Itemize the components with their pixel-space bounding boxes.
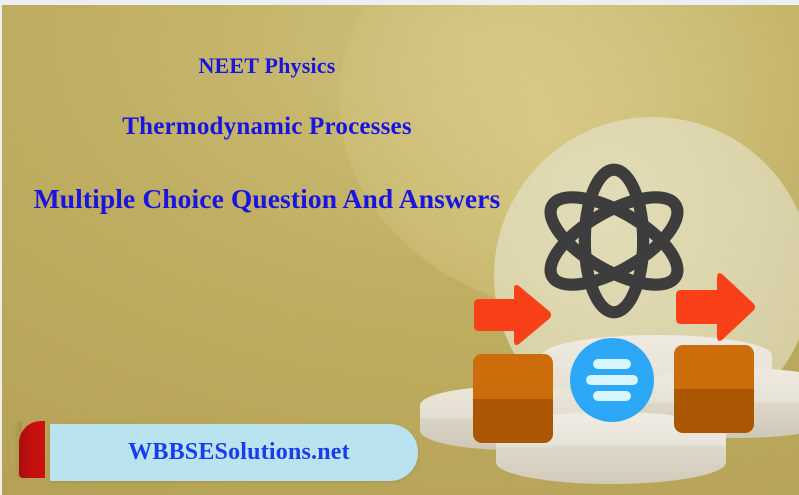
bookmark-shape bbox=[19, 421, 45, 478]
heading-group: NEET Physics Thermodynamic Processes Mul… bbox=[2, 53, 532, 215]
page-title-line1: NEET Physics bbox=[2, 53, 532, 79]
block-top-face bbox=[473, 354, 553, 399]
block-bottom-face bbox=[473, 399, 553, 444]
card-background: NEET Physics Thermodynamic Processes Mul… bbox=[2, 5, 799, 495]
page-title-line2: Thermodynamic Processes bbox=[2, 113, 532, 141]
block-top-face bbox=[674, 345, 754, 389]
site-banner: WBBSESolutions.net bbox=[50, 424, 418, 481]
badge-bar-top bbox=[593, 359, 631, 369]
text-lines-icon bbox=[570, 338, 654, 422]
block-bottom-face bbox=[674, 389, 754, 433]
badge-bar-middle bbox=[586, 375, 638, 385]
thumbnail-screen: NEET Physics Thermodynamic Processes Mul… bbox=[0, 0, 799, 495]
arrow-right-icon-right bbox=[672, 267, 758, 347]
arrow-right-icon-left bbox=[470, 282, 554, 348]
badge-bar-bottom bbox=[593, 391, 631, 401]
page-title-line3: Multiple Choice Question And Answers bbox=[2, 183, 532, 215]
atom-icon bbox=[533, 160, 695, 322]
orange-block-left bbox=[473, 354, 553, 443]
site-name-label: WBBSESolutions.net bbox=[118, 439, 350, 466]
orange-block-right bbox=[674, 345, 754, 433]
